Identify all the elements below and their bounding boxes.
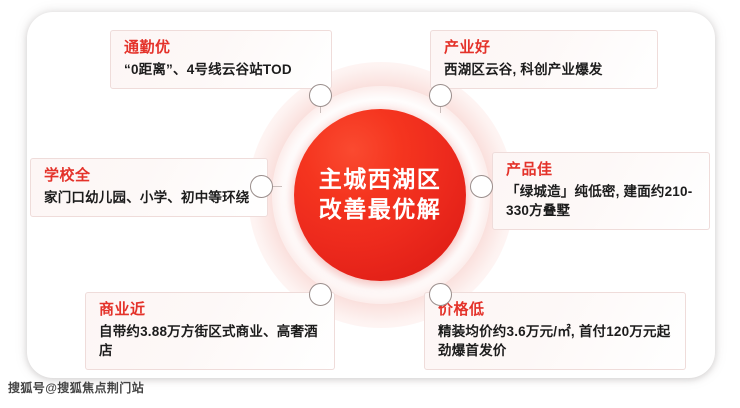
info-box-business-desc: 自带约3.88万方街区式商业、高奢酒店: [99, 322, 323, 360]
info-box-commute-desc: “0距离”、4号线云谷站TOD: [124, 60, 320, 79]
info-box-product[interactable]: 产品佳 「绿城造」纯低密, 建面约210-330方叠墅: [492, 152, 710, 230]
info-box-price-title: 价格低: [438, 300, 674, 320]
hub-title-line-1: 主城西湖区: [319, 165, 442, 195]
center-hub: 主城西湖区 改善最优解: [294, 109, 466, 281]
info-box-business[interactable]: 商业近 自带约3.88万方街区式商业、高奢酒店: [85, 292, 335, 370]
info-box-school[interactable]: 学校全 家门口幼儿园、小学、初中等环绕: [30, 158, 268, 217]
info-box-business-title: 商业近: [99, 300, 323, 320]
info-box-product-title: 产品佳: [506, 160, 698, 180]
info-box-industry[interactable]: 产业好 西湖区云谷, 科创产业爆发: [430, 30, 658, 89]
hub-title-line-2: 改善最优解: [319, 195, 442, 225]
info-box-industry-desc: 西湖区云谷, 科创产业爆发: [444, 60, 646, 79]
info-box-industry-title: 产业好: [444, 38, 646, 58]
connector-node-industry: [429, 84, 452, 107]
info-box-commute[interactable]: 通勤优 “0距离”、4号线云谷站TOD: [110, 30, 332, 89]
info-box-product-desc: 「绿城造」纯低密, 建面约210-330方叠墅: [506, 182, 698, 220]
connector-node-commute: [309, 84, 332, 107]
infographic-canvas: 主城西湖区 改善最优解 通勤优 “0距离”、4号线云谷站TOD 产业好 西湖区云…: [0, 0, 740, 408]
connector-node-product: [470, 175, 493, 198]
info-box-price-desc: 精装均价约3.6万元/㎡, 首付120万元起劲爆首发价: [438, 322, 674, 360]
info-box-price[interactable]: 价格低 精装均价约3.6万元/㎡, 首付120万元起劲爆首发价: [424, 292, 686, 370]
info-box-school-desc: 家门口幼儿园、小学、初中等环绕: [44, 188, 256, 207]
info-box-school-title: 学校全: [44, 166, 256, 186]
connector-node-business: [309, 283, 332, 306]
info-box-commute-title: 通勤优: [124, 38, 320, 58]
connector-node-price: [429, 283, 452, 306]
source-watermark: 搜狐号@搜狐焦点荆门站: [8, 379, 144, 396]
connector-node-school: [250, 175, 273, 198]
